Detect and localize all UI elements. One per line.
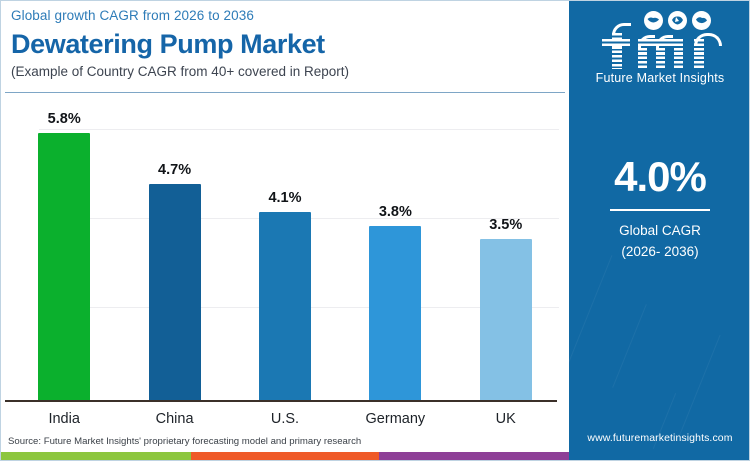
bar-value-label: 4.7% bbox=[126, 162, 224, 178]
panel-divider bbox=[610, 209, 710, 211]
bar-china bbox=[149, 184, 201, 401]
bar-column: 3.8% bbox=[346, 101, 444, 401]
bar-value-label: 4.1% bbox=[236, 190, 334, 206]
page-title: Dewatering Pump Market bbox=[11, 27, 559, 61]
bar-value-label: 5.8% bbox=[15, 111, 113, 127]
strip-segment-blue bbox=[569, 452, 750, 461]
texture-streak bbox=[612, 304, 647, 388]
global-cagr-period: (2026- 2036) bbox=[569, 241, 750, 262]
source-note: Source: Future Market Insights' propriet… bbox=[8, 435, 564, 448]
brand-panel: Future Market Insights 4.0% Global CAGR … bbox=[569, 1, 750, 452]
fmi-logo-mark bbox=[594, 9, 726, 69]
texture-streak bbox=[678, 335, 720, 437]
bottom-color-strip bbox=[1, 452, 750, 461]
bar-series: 5.8%4.7%4.1%3.8%3.5% bbox=[9, 101, 561, 401]
x-axis-labels: IndiaChinaU.S.GermanyUK bbox=[9, 405, 561, 435]
bar-value-label: 3.8% bbox=[346, 204, 444, 220]
bar-column: 3.5% bbox=[457, 101, 555, 401]
bar-value-label: 3.5% bbox=[457, 217, 555, 233]
bar-germany bbox=[369, 226, 421, 401]
infographic-page: Global growth CAGR from 2026 to 2036 Dew… bbox=[0, 0, 750, 461]
global-cagr-label: Global CAGR bbox=[569, 220, 750, 241]
website-url[interactable]: www.futuremarketinsights.com bbox=[569, 432, 750, 444]
fmi-logo: Future Market Insights bbox=[569, 9, 750, 89]
page-subtitle: (Example of Country CAGR from 40+ covere… bbox=[11, 62, 559, 81]
header-block: Global growth CAGR from 2026 to 2036 Dew… bbox=[11, 7, 559, 81]
fmi-wordmark bbox=[594, 23, 726, 69]
x-label-uk: UK bbox=[457, 405, 555, 435]
fmi-logo-text: Future Market Insights bbox=[569, 71, 750, 85]
x-axis-line bbox=[5, 400, 557, 402]
x-label-germany: Germany bbox=[346, 405, 444, 435]
bar-us bbox=[259, 212, 311, 401]
bar-column: 4.7% bbox=[126, 101, 224, 401]
global-cagr-value: 4.0% bbox=[569, 153, 750, 201]
bar-column: 4.1% bbox=[236, 101, 334, 401]
strip-segment-orange bbox=[191, 452, 379, 461]
x-label-india: India bbox=[15, 405, 113, 435]
bar-column: 5.8% bbox=[15, 101, 113, 401]
bar-india bbox=[38, 133, 90, 401]
x-label-us: U.S. bbox=[236, 405, 334, 435]
eyebrow-text: Global growth CAGR from 2026 to 2036 bbox=[11, 7, 559, 25]
strip-segment-green bbox=[1, 452, 191, 461]
header-divider bbox=[5, 92, 565, 93]
texture-streak bbox=[569, 255, 612, 367]
x-label-china: China bbox=[126, 405, 224, 435]
bar-uk bbox=[480, 239, 532, 401]
chart-region: Global growth CAGR from 2026 to 2036 Dew… bbox=[1, 1, 569, 452]
strip-segment-purple bbox=[379, 452, 569, 461]
